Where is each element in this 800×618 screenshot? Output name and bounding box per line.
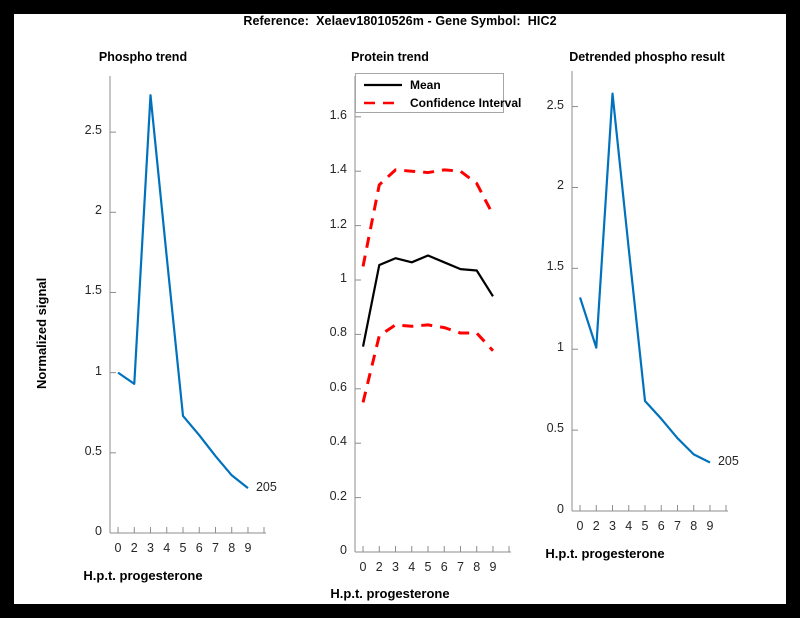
- legend-row-confidence-interval[interactable]: Confidence Interval: [362, 94, 521, 112]
- figure-border: Reference: Xelaev18010526m - Gene Symbol…: [0, 0, 800, 618]
- x-tick-label: 9: [233, 541, 263, 555]
- panel-title-protein: Protein trend: [272, 50, 508, 64]
- x-axis-label-phospho: H.p.t. progesterone: [14, 568, 272, 583]
- y-tick-label: 0.5: [520, 421, 564, 435]
- y-tick-label: 1: [520, 340, 564, 354]
- x-axis-label-detrended: H.p.t. progesterone: [466, 546, 744, 561]
- plot-area-detrended: 00.511.522.5023456789205: [572, 71, 718, 511]
- y-tick-label: 1: [303, 271, 347, 285]
- y-tick-label: 0: [58, 524, 102, 538]
- y-tick-label: 2: [520, 178, 564, 192]
- x-tick-label: 9: [695, 519, 725, 533]
- legend-line-mean-icon: [362, 78, 404, 92]
- legend-protein: Mean Confidence Interval: [355, 73, 504, 113]
- series-end-label: 205: [718, 454, 739, 468]
- y-tick-label: 1.6: [303, 108, 347, 122]
- legend-label-confidence-interval: Confidence Interval: [410, 96, 521, 110]
- legend-line-confidence-interval-icon: [362, 96, 404, 110]
- y-tick-label: 0.2: [303, 489, 347, 503]
- y-tick-label: 0.6: [303, 380, 347, 394]
- panel-title-detrended: Detrended phospho result: [508, 50, 786, 64]
- plot-area-protein: 00.20.40.60.811.21.41.6023456789: [355, 76, 501, 552]
- figure-canvas: Reference: Xelaev18010526m - Gene Symbol…: [14, 14, 786, 604]
- y-tick-label: 1.5: [58, 283, 102, 297]
- panel-detrended-phospho-result: Detrended phospho result 00.511.522.5023…: [508, 14, 786, 604]
- y-tick-label: 1: [58, 364, 102, 378]
- y-tick-label: 2.5: [520, 98, 564, 112]
- y-tick-label: 0.4: [303, 434, 347, 448]
- y-tick-label: 0.8: [303, 325, 347, 339]
- panel-title-phospho: Phospho trend: [14, 50, 272, 64]
- legend-label-mean: Mean: [410, 78, 441, 92]
- y-tick-label: 1.2: [303, 217, 347, 231]
- plot-svg-phospho: [110, 76, 256, 533]
- y-tick-label: 0: [303, 543, 347, 557]
- x-axis-label-protein: H.p.t. progesterone: [272, 586, 508, 601]
- legend-row-mean[interactable]: Mean: [362, 76, 441, 94]
- y-tick-label: 2: [58, 203, 102, 217]
- y-axis-label-normalized-signal: Normalized signal: [34, 278, 49, 389]
- x-tick-label: 9: [478, 560, 508, 574]
- y-tick-label: 0.5: [58, 444, 102, 458]
- panel-protein-trend: Protein trend 00.20.40.60.811.21.41.6023…: [272, 14, 508, 604]
- plot-area-phospho: 00.511.522.5023456789205: [110, 76, 256, 533]
- plot-svg-detrended: [572, 71, 718, 511]
- y-tick-label: 2.5: [58, 123, 102, 137]
- y-tick-label: 0: [520, 502, 564, 516]
- plot-svg-protein: [355, 76, 501, 552]
- y-tick-label: 1.4: [303, 162, 347, 176]
- y-tick-label: 1.5: [520, 259, 564, 273]
- panel-phospho-trend: Phospho trend Normalized signal 00.511.5…: [14, 14, 272, 604]
